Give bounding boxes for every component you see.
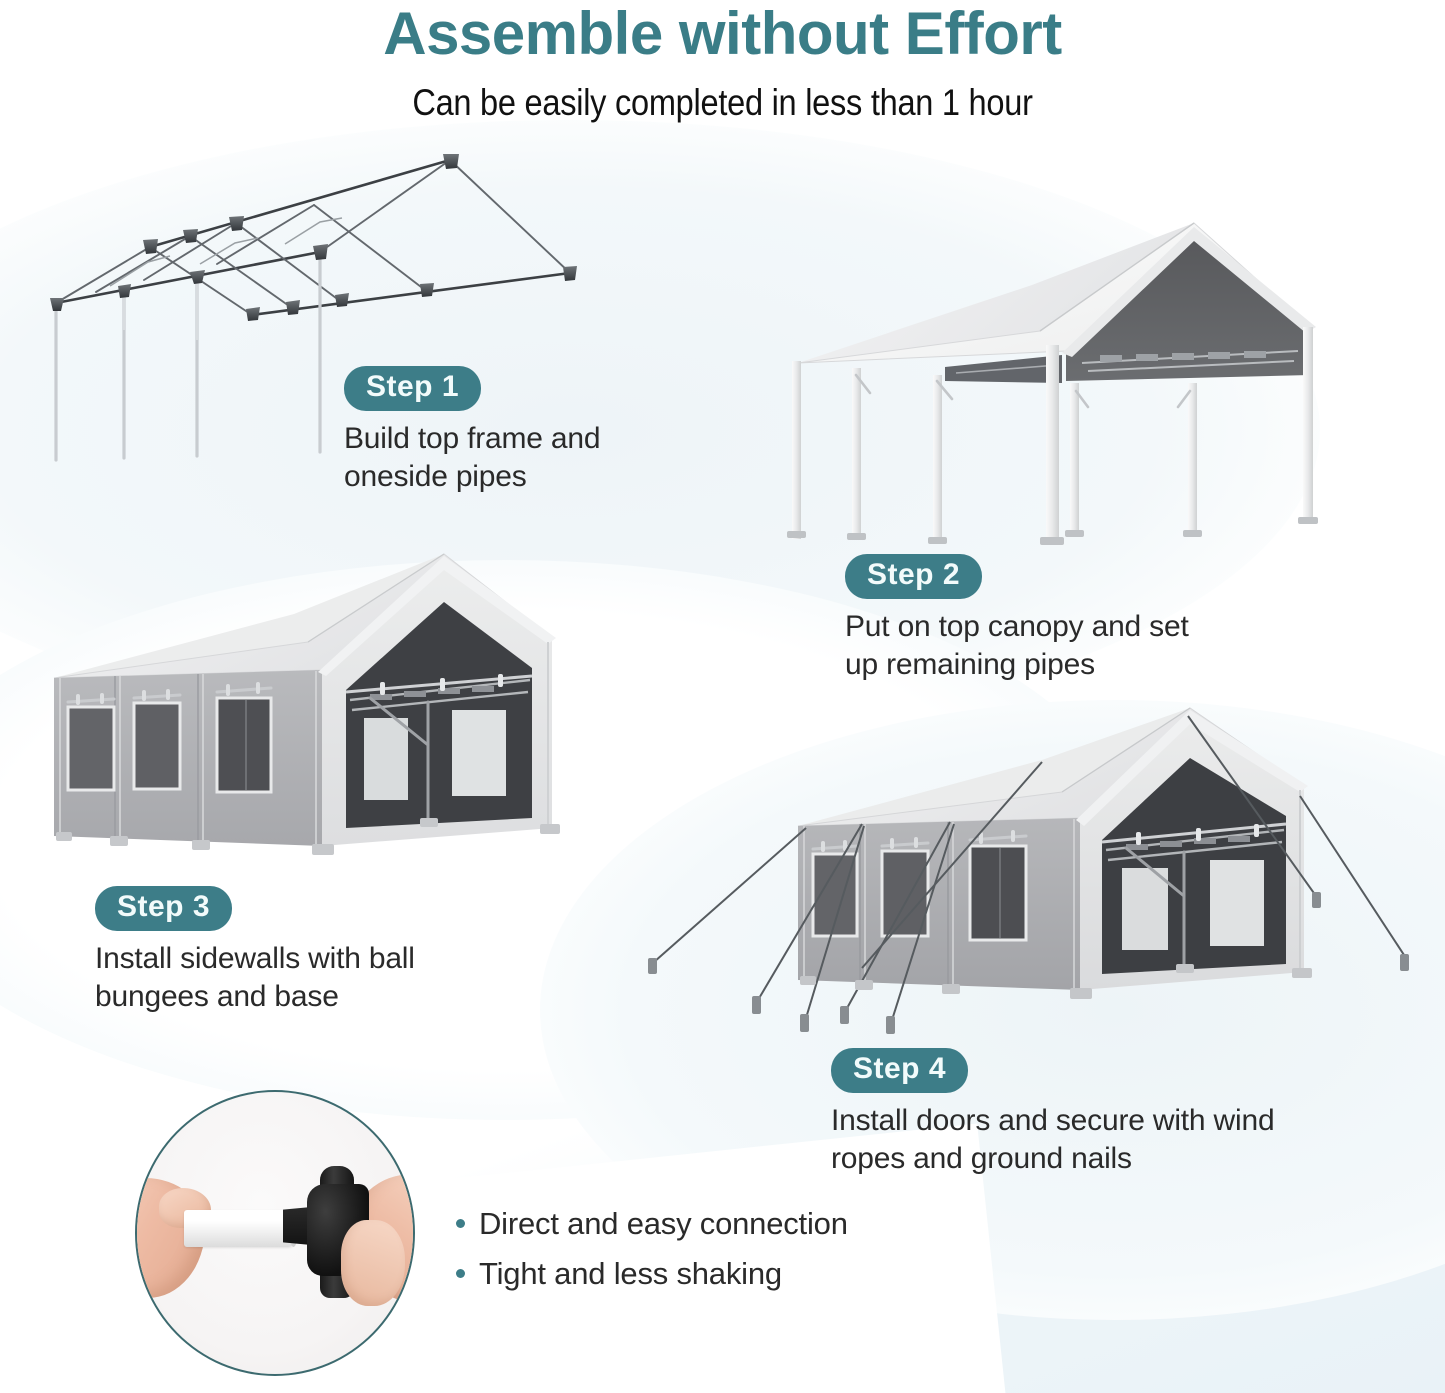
step-4-illustration-doors-and-ropes [610,700,1440,1060]
step-1-text: Build top frame and oneside pipes [344,420,600,496]
page-title: Assemble without Effort [0,0,1445,67]
step-3-badge: Step 3 [95,886,232,931]
step-2-illustration-canopy [770,215,1390,545]
infographic-page: Assemble without Effort Can be easily co… [0,0,1445,1393]
list-item: Tight and less shaking [456,1256,848,1292]
step-3-text: Install sidewalls with ball bungees and … [95,940,415,1016]
bullet-label: Direct and easy connection [479,1206,848,1242]
step-2-badge: Step 2 [845,554,982,599]
list-item: Direct and easy connection [456,1206,848,1242]
page-subtitle: Can be easily completed in less than 1 h… [87,83,1359,124]
step-1: Step 1 Build top frame and oneside pipes [344,366,600,496]
bullet-dot-icon [456,1219,465,1228]
step-2-text: Put on top canopy and set up remaining p… [845,608,1189,684]
header: Assemble without Effort Can be easily co… [0,0,1445,123]
feature-bullet-list: Direct and easy connection Tight and les… [456,1206,848,1306]
step-1-badge: Step 1 [344,366,481,411]
step-3-illustration-sidewalls [40,550,660,900]
white-pipe [184,1210,294,1247]
bullet-label: Tight and less shaking [479,1256,782,1292]
step-4: Step 4 Install doors and secure with win… [831,1048,1274,1178]
step-4-badge: Step 4 [831,1048,968,1093]
connector-photo-inset [135,1090,415,1376]
step-3: Step 3 Install sidewalls with ball bunge… [95,886,415,1016]
step-2: Step 2 Put on top canopy and set up rema… [845,554,1189,684]
step-4-text: Install doors and secure with wind ropes… [831,1102,1274,1178]
bullet-dot-icon [456,1269,465,1278]
right-hand-fingers [341,1220,405,1306]
